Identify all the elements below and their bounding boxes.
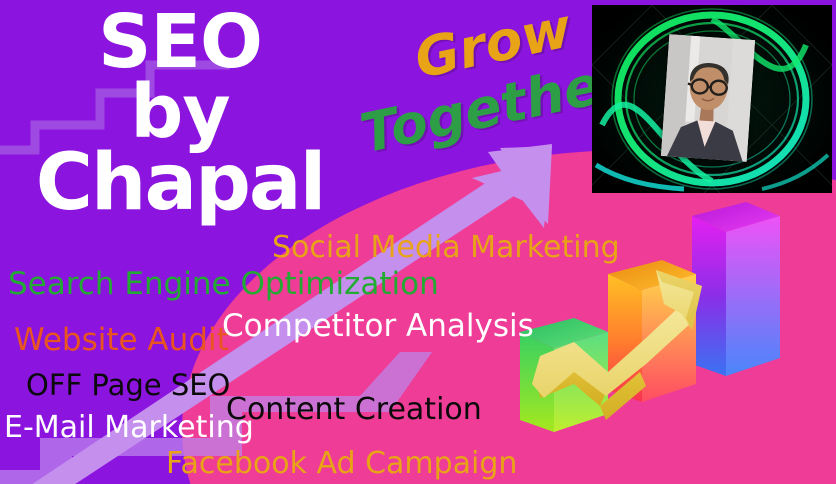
service-label-content-creation: Content Creation xyxy=(226,392,482,427)
service-label-off-page-seo: OFF Page SEO xyxy=(26,368,230,402)
bar-3 xyxy=(692,202,780,376)
slogan: Grow Together!! xyxy=(352,6,602,186)
service-label-seo: Search Engine Optimization xyxy=(8,266,439,302)
service-label-social-media-marketing: Social Media Marketing xyxy=(272,230,620,265)
avatar xyxy=(661,34,755,162)
service-label-website-audit: Website Audit xyxy=(14,322,229,358)
service-label-email-marketing: E-Mail Marketing xyxy=(4,410,254,445)
headline-line-3: Chapal xyxy=(0,148,360,220)
page-title: SEO by Chapal xyxy=(0,8,360,220)
service-label-competitor-analysis: Competitor Analysis xyxy=(222,308,534,344)
headline-line-1: SEO xyxy=(0,8,360,76)
headline-line-2: by xyxy=(0,78,360,146)
service-label-facebook-ad-campaign: Facebook Ad Campaign xyxy=(166,446,517,481)
seo-promo-banner: SEO by Chapal Grow Together!! xyxy=(0,0,836,484)
profile-photo-card xyxy=(592,5,832,193)
